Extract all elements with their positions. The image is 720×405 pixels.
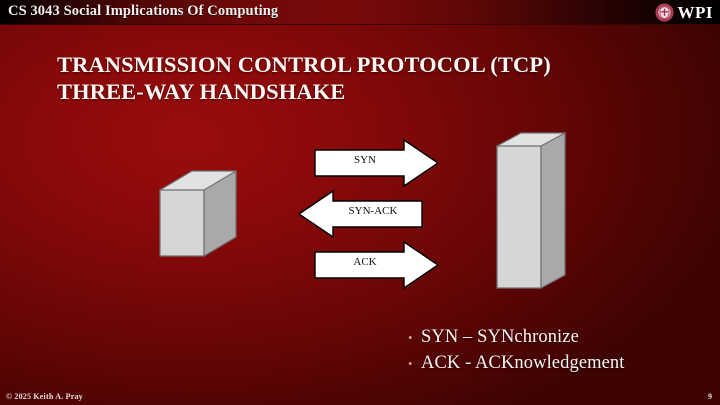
arrow-label-ack: ACK bbox=[319, 256, 411, 268]
list-item-label: ACK - ACKnowledgement bbox=[421, 353, 625, 374]
bullet-dot-icon: • bbox=[408, 357, 421, 370]
list-item: • ACK - ACKnowledgement bbox=[408, 353, 708, 374]
bullet-dot-icon: • bbox=[408, 331, 421, 344]
server-box-icon bbox=[497, 133, 565, 288]
arrow-label-syn-ack: SYN-ACK bbox=[327, 205, 419, 217]
arrow-label-syn: SYN bbox=[319, 154, 411, 166]
bullet-list: • SYN – SYNchronize • ACK - ACKnowledgem… bbox=[408, 327, 708, 379]
client-cube-icon bbox=[160, 171, 236, 256]
list-item: • SYN – SYNchronize bbox=[408, 327, 708, 348]
footer-copyright: © 2025 Keith A. Pray bbox=[6, 392, 83, 401]
footer-page-number: 9 bbox=[708, 392, 712, 401]
list-item-label: SYN – SYNchronize bbox=[421, 327, 579, 348]
slide: CS 3043 Social Implications Of Computing… bbox=[0, 0, 720, 405]
